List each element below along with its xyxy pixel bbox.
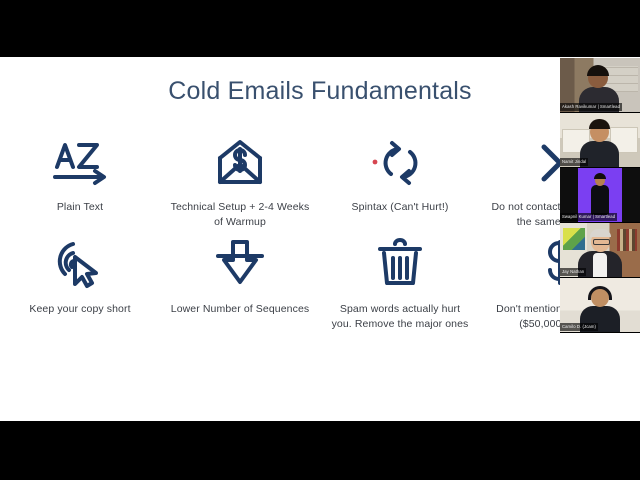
participant-hair	[594, 173, 606, 179]
participant-nameplate: Swapnil Kumar | Smartlead	[560, 213, 617, 221]
fundamental-item-spam-words[interactable]: Spam words actually hurt you. Remove the…	[320, 230, 480, 332]
participant-nameplate: Akash Ravikumar | Smartlead	[560, 103, 622, 111]
refresh-cycle-icon	[364, 132, 436, 194]
page-title: Cold Emails Fundamentals	[0, 76, 640, 106]
participant-hair	[590, 229, 611, 237]
video-background-detail	[617, 229, 637, 251]
item-caption: Technical Setup + 2-4 Weeks of Warmup	[169, 200, 311, 230]
video-tile[interactable]: Camilo D. (Jcam)	[560, 278, 640, 333]
item-caption: Plain Text	[9, 200, 151, 215]
item-caption: Spam words actually hurt you. Remove the…	[329, 302, 471, 332]
grid-row-2: Keep your copy short Lower Number of Seq…	[0, 230, 640, 332]
video-tile[interactable]: Namit Jindal	[560, 113, 640, 168]
participant-silhouette	[591, 185, 609, 215]
fundamental-item-short-copy[interactable]: Keep your copy short	[0, 230, 160, 332]
participant-nameplate: Camilo D. (Jcam)	[560, 323, 598, 331]
fundamental-item-lower-sequences[interactable]: Lower Number of Sequences	[160, 230, 320, 332]
trash-bin-icon	[372, 230, 428, 296]
participant-nameplate: Namit Jindal	[560, 158, 588, 166]
video-tile[interactable]: Swapnil Kumar | Smartlead	[560, 168, 640, 223]
video-tile[interactable]: Akash Ravikumar | Smartlead	[560, 58, 640, 113]
video-tile[interactable]: Jay Nathan	[560, 223, 640, 278]
down-arrow-icon	[212, 230, 268, 296]
fundamental-item-technical-setup[interactable]: Technical Setup + 2-4 Weeks of Warmup	[160, 132, 320, 230]
item-caption: Spintax (Can't Hurt!)	[329, 200, 471, 215]
video-background-detail	[563, 228, 585, 250]
presentation-slide: Cold Emails Fundamentals Plain Text	[0, 57, 640, 421]
cursor-click-icon	[51, 230, 109, 296]
fundamental-item-spintax[interactable]: Spintax (Can't Hurt!)	[320, 132, 480, 230]
fundamental-item-plain-text[interactable]: Plain Text	[0, 132, 160, 230]
fundamentals-grid: Plain Text Technical Setup + 2-4 Weeks o…	[0, 132, 640, 332]
item-caption: Lower Number of Sequences	[169, 302, 311, 317]
video-tile-rail: Akash Ravikumar | Smartlead Namit Jindal…	[560, 58, 640, 333]
participant-glasses	[593, 239, 610, 245]
participant-nameplate: Jay Nathan	[560, 268, 586, 276]
envelope-dollar-icon	[212, 132, 268, 194]
grid-row-1: Plain Text Technical Setup + 2-4 Weeks o…	[0, 132, 640, 230]
az-sort-arrow-icon	[49, 132, 111, 194]
item-caption: Keep your copy short	[9, 302, 151, 317]
meeting-screen-share: Cold Emails Fundamentals Plain Text	[0, 0, 640, 480]
participant-shirt	[593, 253, 607, 278]
